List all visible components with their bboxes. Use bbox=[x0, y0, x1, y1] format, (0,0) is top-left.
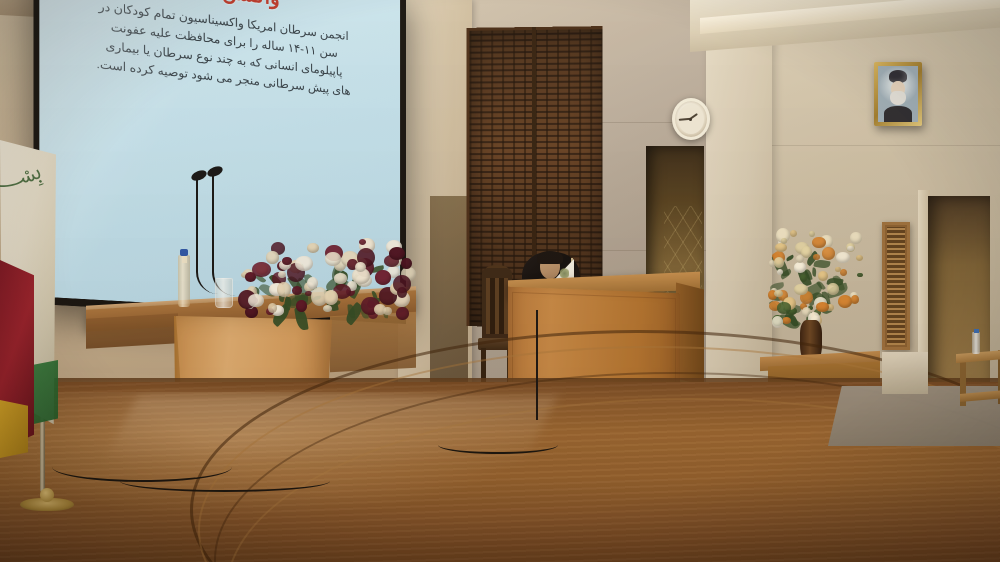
flower-bloom bbox=[266, 251, 279, 263]
floral-arrangement-vase bbox=[768, 228, 864, 328]
flower-bloom bbox=[827, 283, 839, 295]
flag-stand bbox=[20, 480, 74, 514]
flower-bloom bbox=[777, 269, 783, 275]
flag-gold-band bbox=[0, 400, 28, 458]
louvered-vent-panel bbox=[882, 222, 910, 350]
floor-cable bbox=[438, 436, 558, 454]
flower-bloom bbox=[248, 294, 263, 308]
flower-bloom bbox=[383, 307, 391, 315]
flower-bloom bbox=[782, 317, 791, 324]
flower-bloom bbox=[800, 274, 807, 282]
portrait-beard bbox=[890, 91, 905, 106]
portrait-image bbox=[878, 66, 918, 122]
flower-bloom bbox=[809, 231, 815, 237]
flower-bloom bbox=[775, 243, 787, 252]
flower-bloom bbox=[816, 302, 828, 312]
wall-clock-icon bbox=[672, 98, 710, 140]
flower-bloom bbox=[857, 273, 862, 278]
floor-cable bbox=[120, 470, 330, 492]
bottle-cap bbox=[180, 249, 188, 256]
portrait-robe bbox=[884, 106, 913, 122]
flower-bloom bbox=[334, 273, 347, 283]
flower-bloom bbox=[774, 257, 785, 268]
presentation-slide: واکسن HPV انجمن سرطان امریکا واکسیناسیون… bbox=[39, 0, 400, 107]
framed-portrait bbox=[874, 62, 922, 126]
flower-bloom bbox=[292, 286, 302, 295]
flower-bloom bbox=[772, 316, 784, 328]
stone-step-block bbox=[882, 352, 928, 394]
flower-bloom bbox=[375, 270, 391, 284]
flower-bloom bbox=[401, 258, 412, 269]
flower-bloom bbox=[355, 262, 366, 273]
bottle-neck bbox=[182, 255, 187, 263]
flower-bloom bbox=[822, 247, 835, 259]
flower-bloom bbox=[794, 284, 807, 295]
flower-bloom bbox=[325, 252, 340, 266]
flower-bloom bbox=[295, 256, 312, 272]
conference-hall-photo: واکسن HPV انجمن سرطان امریکا واکسیناسیون… bbox=[0, 0, 1000, 562]
flower-bloom bbox=[794, 262, 806, 272]
flower-bloom bbox=[838, 295, 852, 308]
flower-bloom bbox=[790, 230, 798, 237]
doorway-right bbox=[928, 196, 990, 394]
flower-bloom bbox=[850, 232, 862, 243]
floral-arrangement-podium bbox=[236, 234, 420, 320]
flower-leaf bbox=[811, 267, 816, 276]
presenter-headscarf-edge bbox=[537, 251, 563, 264]
flower-leaf bbox=[786, 254, 795, 261]
bottle-cap bbox=[974, 329, 979, 333]
flower-bloom bbox=[252, 262, 271, 277]
flower-bloom bbox=[323, 305, 332, 312]
clock-center-pin bbox=[689, 118, 692, 121]
flower-bloom bbox=[296, 300, 308, 312]
flower-bloom bbox=[277, 282, 292, 297]
flower-bloom bbox=[307, 243, 318, 253]
flower-bloom bbox=[835, 267, 840, 273]
water-bottle bbox=[972, 332, 980, 354]
flower-bloom bbox=[856, 255, 864, 262]
flower-bloom bbox=[359, 239, 366, 245]
flag-stand-knob bbox=[40, 488, 54, 502]
drinking-glass bbox=[215, 278, 233, 308]
flower-bloom bbox=[781, 238, 787, 243]
flower-bloom bbox=[851, 295, 859, 304]
flower-bloom bbox=[813, 254, 820, 259]
flower-bloom bbox=[278, 271, 286, 278]
water-bottle bbox=[178, 255, 190, 307]
flower-bloom bbox=[396, 307, 408, 320]
flower-bloom bbox=[836, 252, 850, 263]
flower-bloom bbox=[818, 271, 828, 281]
flower-bloom bbox=[777, 302, 791, 313]
podium-side bbox=[86, 313, 178, 348]
flower-bloom bbox=[840, 269, 847, 276]
flower-leaf bbox=[813, 259, 830, 270]
microphone-cable bbox=[536, 310, 540, 420]
